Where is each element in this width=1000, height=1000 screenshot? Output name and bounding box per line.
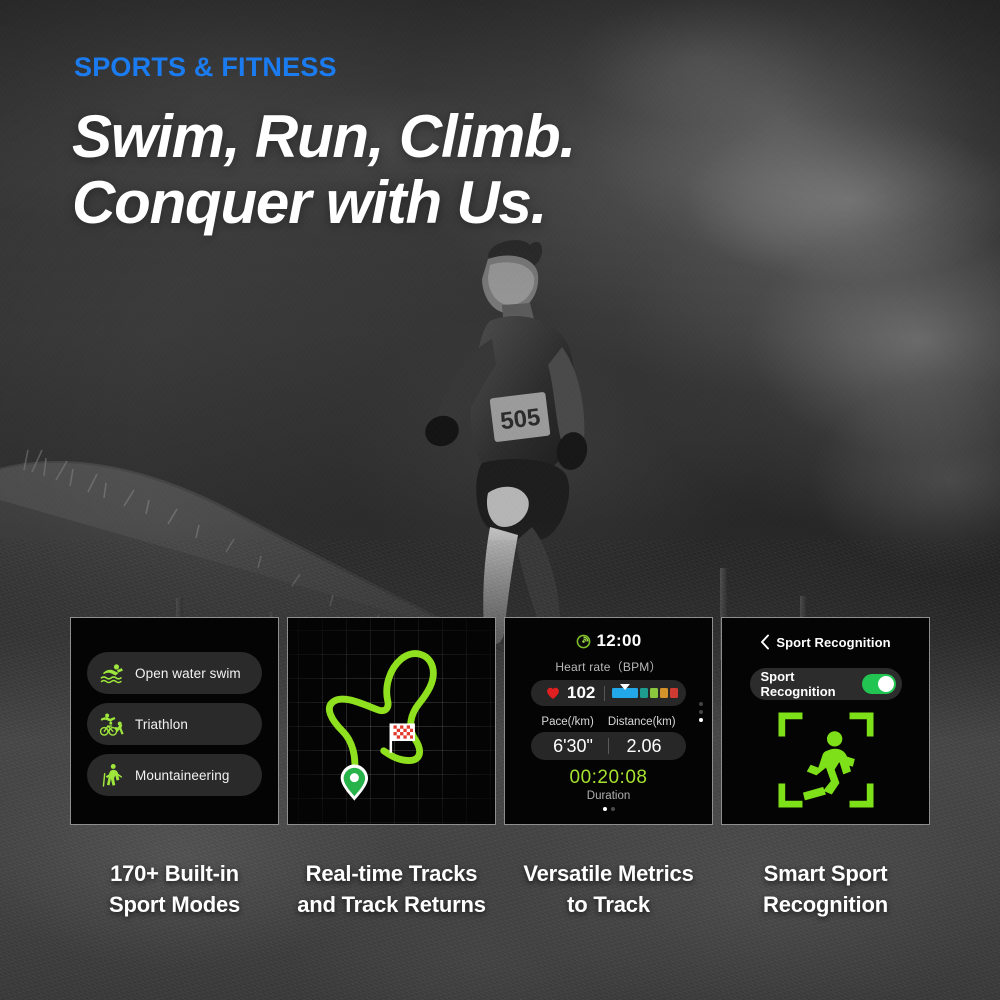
page-dot-active — [603, 807, 607, 811]
running-person-detection-icon — [778, 712, 874, 808]
caption-real-time-tracks: Real-time Tracks and Track Returns — [287, 858, 496, 920]
gps-signal-icon — [576, 634, 591, 649]
heart-rate-pill[interactable]: 102 — [531, 680, 686, 706]
scroll-indicator — [699, 702, 703, 722]
eyebrow-label: SPORTS & FITNESS — [74, 52, 337, 83]
card-metrics: 12:00 Heart rate（BPM） 102 — [504, 617, 713, 825]
hr-zone-5 — [670, 688, 678, 698]
divider — [604, 686, 605, 701]
sport-mode-list: Open water swim Tri — [87, 652, 262, 796]
heart-rate-value: 102 — [567, 683, 595, 703]
pace-distance-pill[interactable]: 6'30" 2.06 — [531, 732, 686, 760]
caption-line-2: Recognition — [721, 889, 930, 920]
card-sport-modes: Open water swim Tri — [70, 617, 279, 825]
caption-line-1: Real-time Tracks — [287, 858, 496, 889]
heart-rate-value-group: 102 — [531, 683, 595, 703]
scroll-dot — [699, 710, 703, 714]
list-item[interactable]: Mountaineering — [87, 754, 262, 796]
chevron-left-icon[interactable] — [760, 634, 770, 650]
open-water-swim-icon — [99, 660, 125, 686]
heart-rate-caption: Heart rate（BPM） — [555, 658, 661, 675]
feature-card-strip: Open water swim Tri — [70, 617, 930, 825]
list-item[interactable]: Triathlon — [87, 703, 262, 745]
list-item-label: Open water swim — [135, 666, 241, 681]
caption-line-2: to Track — [504, 889, 713, 920]
caption-smart-sport-recognition: Smart Sport Recognition — [721, 858, 930, 920]
toggle-knob — [878, 676, 894, 692]
sport-recognition-toggle-row[interactable]: Sport Recognition — [750, 668, 902, 700]
heart-rate-zone-bar — [612, 688, 678, 698]
pace-value: 6'30" — [538, 736, 608, 757]
distance-label: Distance(km) — [608, 716, 676, 728]
list-item-label: Triathlon — [135, 717, 188, 732]
card-sport-recognition: Sport Recognition Sport Recognition — [721, 617, 930, 825]
clock-label: 12:00 — [597, 631, 642, 651]
heart-icon — [545, 685, 561, 701]
page-dot — [611, 807, 615, 811]
caption-line-1: 170+ Built-in — [70, 858, 279, 889]
scroll-dot-active — [699, 718, 703, 722]
route-track — [288, 618, 495, 819]
hr-zone-4 — [660, 688, 668, 698]
headline-line-2: Conquer with Us. — [72, 170, 832, 236]
hr-zone-marker-icon — [620, 684, 630, 690]
distance-value: 2.06 — [609, 736, 679, 757]
sport-recognition-toggle[interactable] — [862, 674, 896, 694]
card-route-map — [287, 617, 496, 825]
headline-line-1: Swim, Run, Climb. — [72, 104, 832, 170]
toggle-row-label: Sport Recognition — [761, 669, 862, 699]
caption-line-1: Versatile Metrics — [504, 858, 713, 889]
scroll-dot — [699, 702, 703, 706]
page-indicator — [603, 807, 615, 811]
caption-row: 170+ Built-in Sport Modes Real-time Trac… — [70, 858, 930, 920]
list-item[interactable]: Open water swim — [87, 652, 262, 694]
duration-value: 00:20:08 — [570, 767, 648, 789]
watch-metrics-screen: 12:00 Heart rate（BPM） 102 — [505, 618, 712, 824]
mountaineering-icon — [99, 762, 125, 788]
hr-zone-3 — [650, 688, 658, 698]
caption-line-2: and Track Returns — [287, 889, 496, 920]
caption-versatile-metrics: Versatile Metrics to Track — [504, 858, 713, 920]
pace-label: Pace(/km) — [541, 716, 593, 728]
duration-label: Duration — [587, 790, 630, 802]
pace-distance-labels: Pace(/km) Distance(km) — [541, 716, 675, 728]
caption-sport-modes: 170+ Built-in Sport Modes — [70, 858, 279, 920]
promo-banner: 505 SPORTS & FITNESS Swim, Run, Climb. C… — [0, 0, 1000, 1000]
list-item-label: Mountaineering — [135, 768, 229, 783]
screen-title: Sport Recognition — [776, 635, 890, 650]
triathlon-icon — [99, 711, 125, 737]
page-title: Swim, Run, Climb. Conquer with Us. — [72, 104, 832, 236]
hr-zone-2 — [640, 688, 648, 698]
screen-header: Sport Recognition — [760, 634, 890, 650]
status-row: 12:00 — [576, 631, 642, 651]
caption-line-1: Smart Sport — [721, 858, 930, 889]
sport-recognition-screen: Sport Recognition Sport Recognition — [722, 618, 929, 824]
caption-line-2: Sport Modes — [70, 889, 279, 920]
